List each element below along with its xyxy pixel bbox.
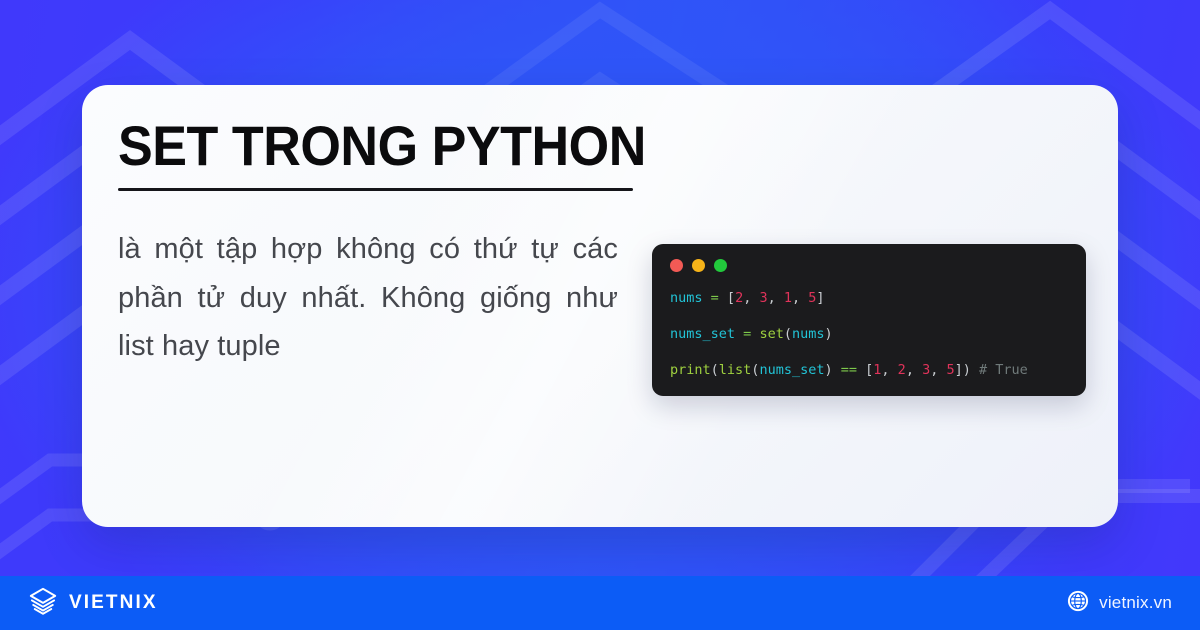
stacked-layers-icon — [28, 586, 58, 621]
code-snippet-window: nums = [2, 3, 1, 5]nums_set = set(nums)p… — [652, 244, 1086, 396]
close-dot-icon[interactable] — [670, 259, 683, 272]
minimize-dot-icon[interactable] — [692, 259, 705, 272]
footer-bar: VIETNIX vietnix.vn — [0, 576, 1200, 630]
brand-name: VIETNIX — [69, 592, 158, 614]
content-card: SET TRONG PYTHON là một tập hợp không có… — [82, 85, 1118, 527]
maximize-dot-icon[interactable] — [714, 259, 727, 272]
poster-canvas: SET TRONG PYTHON là một tập hợp không có… — [0, 0, 1200, 630]
site-url-label: vietnix.vn — [1099, 593, 1172, 613]
brand-logo[interactable]: VIETNIX — [28, 586, 158, 621]
code-line: nums = [2, 3, 1, 5] — [670, 289, 1068, 307]
title-underline — [118, 188, 633, 191]
code-line: print(list(nums_set) == [1, 2, 3, 5]) # … — [670, 361, 1068, 379]
card-left-column: SET TRONG PYTHON là một tập hợp không có… — [118, 117, 670, 371]
card-description: là một tập hợp không có thứ tự các phần … — [118, 225, 618, 371]
globe-icon — [1067, 590, 1089, 617]
code-block: nums = [2, 3, 1, 5]nums_set = set(nums)p… — [670, 289, 1068, 380]
code-line: nums_set = set(nums) — [670, 325, 1068, 343]
site-link[interactable]: vietnix.vn — [1067, 590, 1172, 617]
page-title: SET TRONG PYTHON — [118, 117, 631, 176]
window-traffic-lights — [670, 259, 1068, 272]
